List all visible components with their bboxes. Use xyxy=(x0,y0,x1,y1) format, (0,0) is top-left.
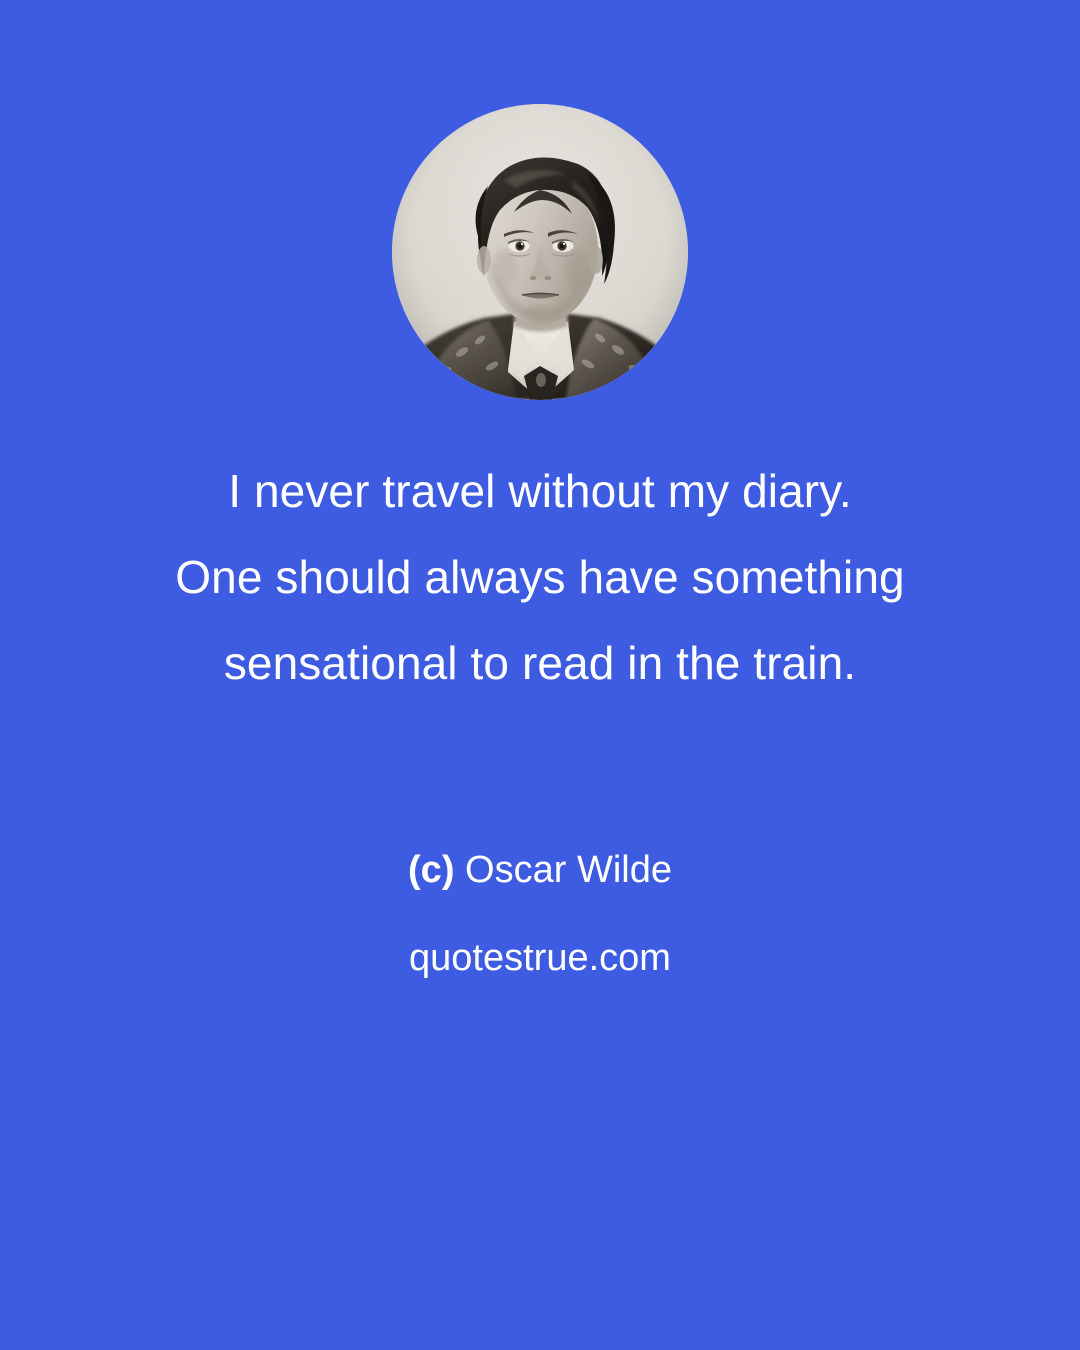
quote-card: I never travel without my diary. One sho… xyxy=(0,0,1080,1350)
quote-line: sensational to read in the train. xyxy=(70,620,1010,706)
copyright-mark: (c) xyxy=(408,849,454,891)
portrait-container xyxy=(0,104,1080,400)
avatar xyxy=(392,104,688,400)
quote-line: I never travel without my diary. xyxy=(70,448,1010,534)
portrait-photo-icon xyxy=(392,104,688,400)
author-name: Oscar Wilde xyxy=(465,849,672,891)
quote-attribution: (c) Oscar Wilde xyxy=(0,845,1080,895)
quote-line: One should always have something xyxy=(70,534,1010,620)
site-domain: quotestrue.com xyxy=(0,933,1080,983)
quote-text: I never travel without my diary. One sho… xyxy=(0,448,1080,706)
